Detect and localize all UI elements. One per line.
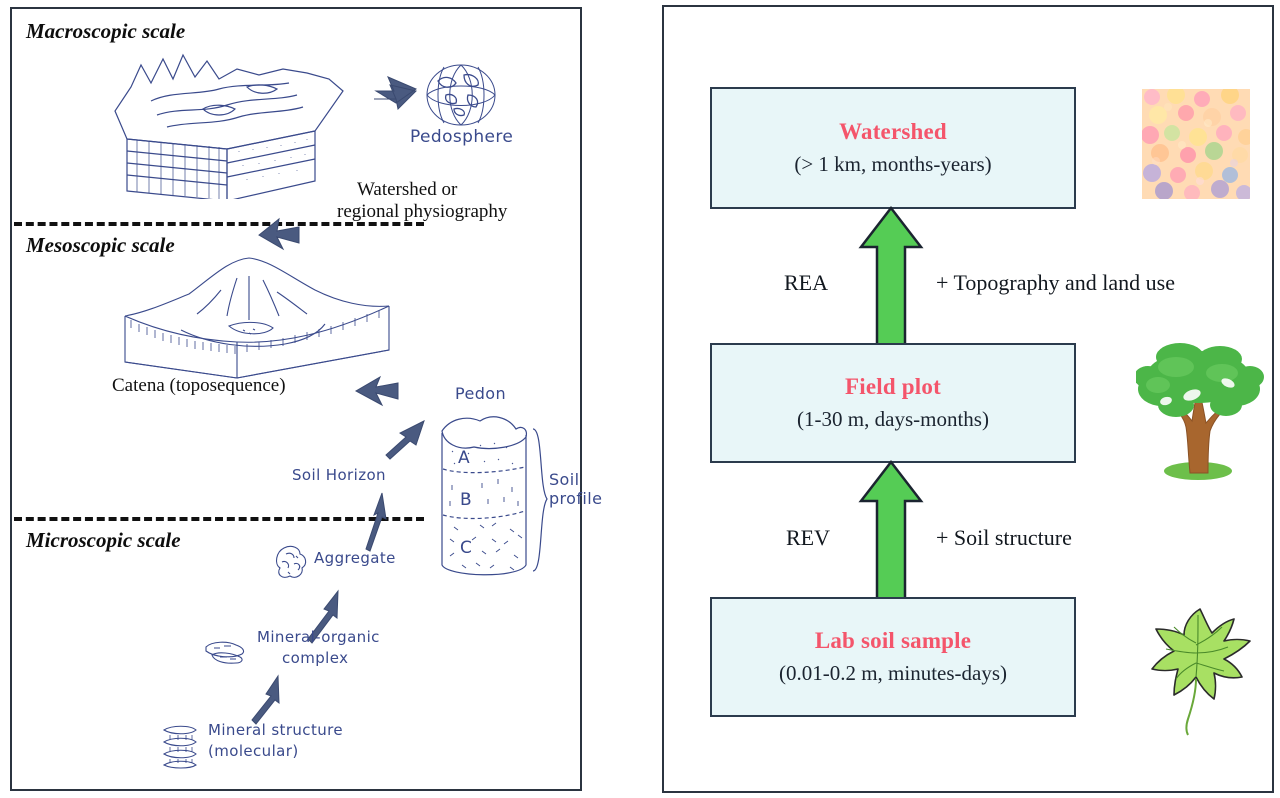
soil-horizon-label: Soil Horizon xyxy=(292,467,386,485)
arrow-mineral-to-complex xyxy=(248,674,284,726)
scale-box-watershed-subtitle: (> 1 km, months-years) xyxy=(794,152,991,177)
left-panel-scale-hierarchy: Macroscopic scale Mesoscopic scale Micro… xyxy=(10,7,582,791)
arrow-pedon-to-catena xyxy=(352,369,400,409)
catena-label: Catena (toposequence) xyxy=(112,375,286,398)
transition-label-rev: REV xyxy=(786,525,830,551)
watershed-map-thumbnail xyxy=(1142,89,1250,199)
transition-addition-rev: + Soil structure xyxy=(936,525,1072,551)
mineral-structure-label-line1: Mineral structure xyxy=(208,722,343,740)
scale-label-microscopic: Microscopic scale xyxy=(26,528,181,553)
terrain-block-diagram xyxy=(107,39,367,199)
soil-profile-label-line1: Soil xyxy=(549,471,579,490)
aggregate-icon xyxy=(272,542,312,582)
mineral-organic-label-line2: complex xyxy=(282,650,348,668)
scale-box-lab-soil-sample-subtitle: (0.01-0.2 m, minutes-days) xyxy=(779,661,1007,686)
pedon-label: Pedon xyxy=(455,385,506,404)
pedosphere-globe-icon xyxy=(420,61,502,131)
scale-box-field-plot[interactable]: Field plot (1-30 m, days-months) xyxy=(710,343,1076,463)
right-panel-scale-boxes: Watershed (> 1 km, months-years) xyxy=(662,5,1274,793)
svg-text:B: B xyxy=(460,490,472,510)
tree-thumbnail xyxy=(1136,343,1266,481)
scale-box-field-plot-subtitle: (1-30 m, days-months) xyxy=(797,407,989,432)
arrow-rea-upward xyxy=(858,205,924,353)
mineral-organic-complex-icon xyxy=(202,637,250,667)
leaf-thumbnail xyxy=(1142,593,1262,743)
watershed-regional-label-line1: Watershed or xyxy=(357,179,457,202)
mineral-structure-icon xyxy=(160,722,200,770)
soil-profile-label-line2: profile xyxy=(549,490,602,509)
arrow-meso-to-macro xyxy=(255,205,303,251)
scale-box-lab-soil-sample[interactable]: Lab soil sample (0.01-0.2 m, minutes-day… xyxy=(710,597,1076,717)
mineral-structure-label-line2: (molecular) xyxy=(208,743,299,761)
svg-text:A: A xyxy=(458,448,470,468)
scale-box-watershed-title: Watershed xyxy=(839,119,947,145)
pedosphere-label: Pedosphere xyxy=(410,127,513,147)
transition-label-rea: REA xyxy=(784,270,828,296)
arrow-aggregate-to-horizon xyxy=(360,491,394,553)
mineral-organic-label-line1: Mineral-organic xyxy=(257,629,380,647)
arrow-rev-upward xyxy=(858,459,924,605)
scale-box-watershed[interactable]: Watershed (> 1 km, months-years) xyxy=(710,87,1076,209)
arrow-horizon-to-pedon xyxy=(382,417,428,461)
scale-box-lab-soil-sample-title: Lab soil sample xyxy=(815,628,971,654)
aggregate-label: Aggregate xyxy=(314,550,396,568)
scale-box-field-plot-title: Field plot xyxy=(845,374,941,400)
watershed-regional-label-line2: regional physiography xyxy=(337,201,507,224)
transition-addition-rea: + Topography and land use xyxy=(936,270,1175,296)
svg-text:C: C xyxy=(460,538,472,558)
arrow-to-pedosphere xyxy=(372,69,422,111)
